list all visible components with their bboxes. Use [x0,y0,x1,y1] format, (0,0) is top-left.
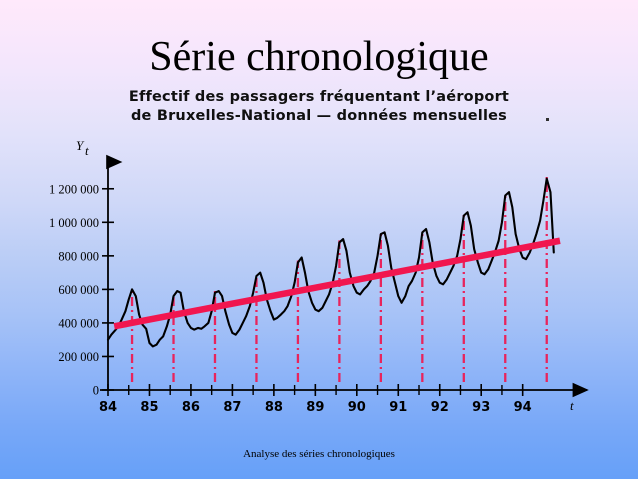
x-axis-tick-label: 93 [472,400,490,415]
time-series-chart: 0200 000400 000600 000800 0001 000 0001 … [0,120,638,420]
x-axis-tick-label: 91 [389,400,407,415]
y-axis-tick-label: 600 000 [58,283,99,297]
x-axis-tick-label: 89 [306,400,324,415]
y-axis-tick-label: 200 000 [58,350,99,364]
y-axis-tick-label: 400 000 [58,316,99,330]
x-axis-tick-label: 84 [99,400,117,415]
y-axis: 0200 000400 000600 000800 0001 000 0001 … [49,138,114,398]
slide-footer-caption: Analyse des séries chronologiques [0,448,638,460]
y-axis-label: Y [76,138,85,153]
x-axis-tick-label: 87 [223,400,241,415]
x-axis: 8485868788899091929394 t [99,384,587,415]
y-axis-label-subscript: t [85,143,89,158]
y-axis-tick-label: 800 000 [58,249,99,263]
x-axis-tick-label: 86 [182,400,200,415]
y-axis-tick-label: 1 200 000 [49,182,99,196]
y-axis-ticks: 0200 000400 000600 000800 0001 000 0001 … [49,182,114,397]
y-axis-tick-label: 0 [93,384,99,398]
x-axis-tick-label: 92 [431,400,449,415]
x-axis-ticks: 8485868788899091929394 [99,384,532,415]
x-axis-tick-label: 85 [140,400,158,415]
slide-canvas: Série chronologique Effectif des passage… [0,0,638,479]
chart-subtitle-line-1: Effectif des passagers fréquentant l’aér… [0,88,638,107]
x-axis-tick-label: 88 [265,400,283,415]
x-axis-tick-label: 94 [514,400,532,415]
page-title: Série chronologique [0,34,638,80]
peak-marker-group [132,177,547,382]
x-axis-tick-label: 90 [348,400,366,415]
series-line-passagers [108,179,554,347]
x-axis-label: t [570,398,574,413]
y-axis-tick-label: 1 000 000 [49,216,99,230]
